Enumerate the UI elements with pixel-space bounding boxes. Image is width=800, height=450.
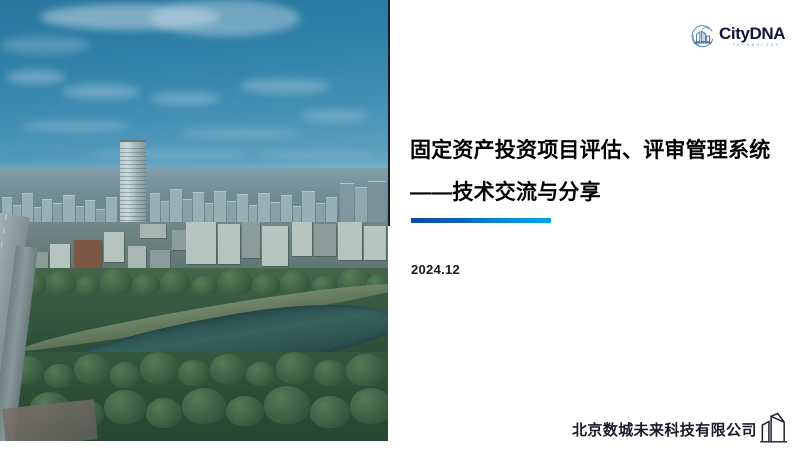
slide-subtitle: ——技术交流与分享 [410, 176, 780, 206]
cloud [150, 92, 220, 105]
title-block: 固定资产投资项目评估、评审管理系统 ——技术交流与分享 [410, 134, 780, 206]
citydna-circular-building-mark [690, 23, 716, 49]
brand-wordmark: CityDNA [719, 25, 785, 42]
cloud [0, 36, 90, 54]
cloud [300, 110, 370, 122]
cloud [240, 78, 330, 94]
slide-title: 固定资产投资项目评估、评审管理系统 [410, 134, 780, 164]
title-slide: CityDNA TECHNOLOGY 固定资产投资项目评估、评审管理系统 ——技… [0, 0, 800, 450]
hero-cityscape-image [0, 0, 388, 441]
cloud [180, 128, 300, 139]
footer-company-block: 北京数城未来科技有限公司 [572, 412, 789, 440]
brand-tagline: TECHNOLOGY [733, 44, 785, 48]
company-name: 北京数城未来科技有限公司 [572, 419, 757, 440]
cloud [150, 0, 300, 36]
title-accent-bar [411, 218, 551, 223]
cloud [62, 84, 140, 99]
photo-skyline-band [0, 168, 388, 228]
cloud [90, 150, 250, 160]
building-outline-icon [759, 412, 789, 444]
slide-divider-line [388, 0, 390, 226]
brand-logo: CityDNA TECHNOLOGY [690, 19, 790, 53]
cloud [6, 70, 66, 84]
cloud [20, 120, 130, 132]
cloud [255, 150, 375, 160]
slide-date: 2024.12 [411, 262, 460, 277]
